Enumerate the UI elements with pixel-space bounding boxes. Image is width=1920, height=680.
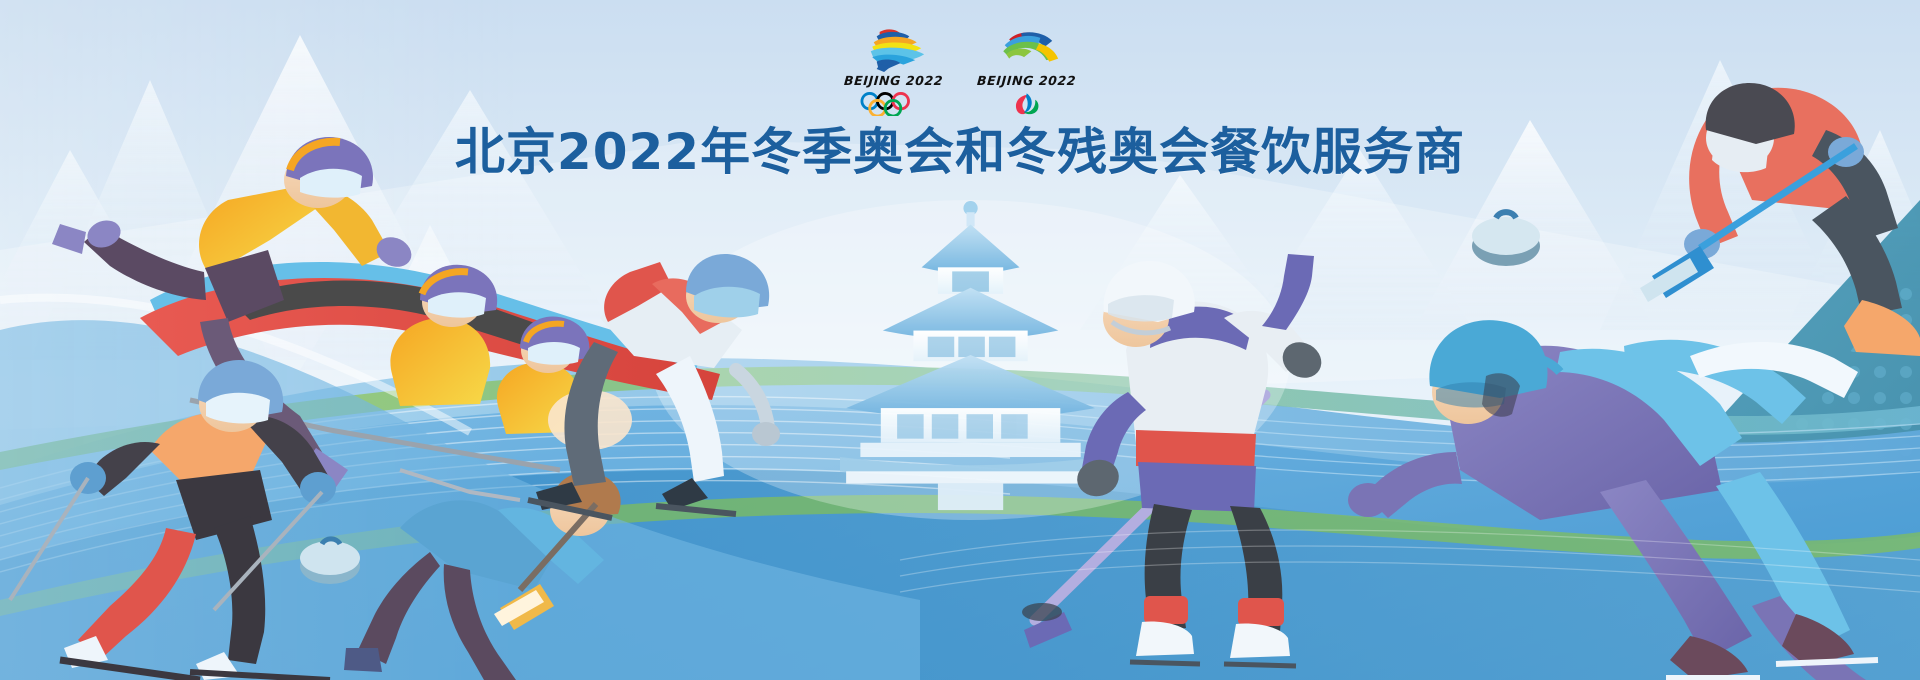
page-title: 北京2022年冬季奥会和冬残奥会餐饮服务商 <box>0 124 1920 180</box>
paralympic-wordmark: BEIJING 2022 <box>977 75 1077 88</box>
emblem-row: BEIJING 2022 BEIJING 2022 <box>0 26 1920 118</box>
paralympic-emblem-block: BEIJING 2022 <box>977 26 1076 116</box>
beijing-2022-paralympic-emblem <box>991 26 1063 72</box>
paralympic-agitos <box>990 92 1063 116</box>
beijing-2022-olympic-emblem <box>857 26 929 72</box>
olympic-wordmark: BEIJING 2022 <box>843 75 943 88</box>
olympic-banner: BEIJING 2022 BEIJING 2022 <box>0 0 1920 680</box>
olympic-rings <box>857 92 930 116</box>
olympic-emblem-block: BEIJING 2022 <box>844 26 943 116</box>
